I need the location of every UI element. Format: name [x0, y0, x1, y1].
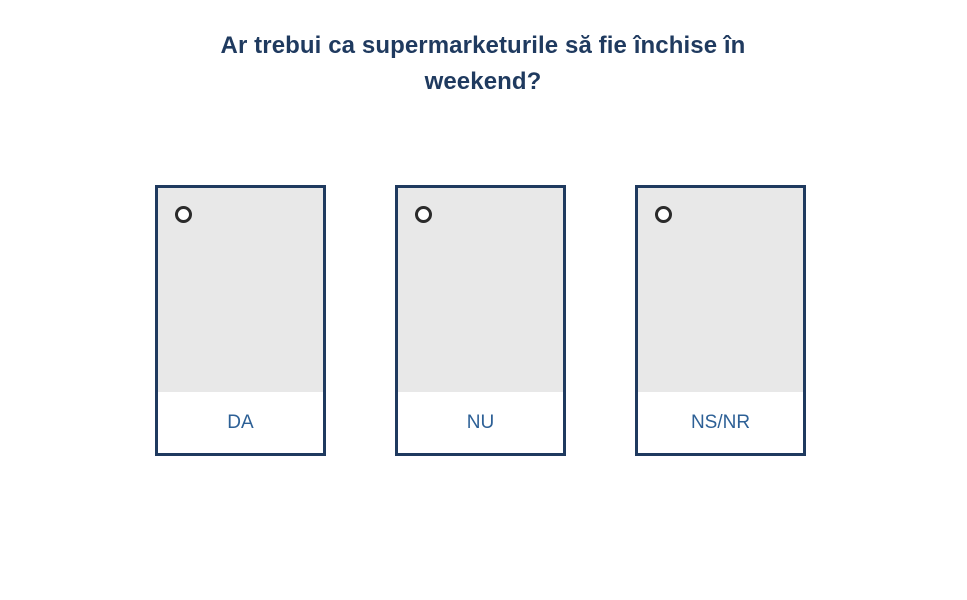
- radio-unchecked-icon[interactable]: [175, 206, 192, 223]
- poll-option-bar-nsnr: [638, 188, 803, 392]
- poll-option-label-area-nu: NU: [398, 392, 563, 453]
- poll-option-card-da[interactable]: DA: [155, 185, 326, 456]
- poll-option-bar-nu: [398, 188, 563, 392]
- poll-option-label-area-nsnr: NS/NR: [638, 392, 803, 453]
- poll-widget: Ar trebui ca supermarketurile să fie înc…: [0, 0, 967, 600]
- poll-question-title: Ar trebui ca supermarketurile să fie înc…: [168, 28, 798, 100]
- poll-option-label: DA: [227, 412, 253, 434]
- poll-option-bar-da: [158, 188, 323, 392]
- radio-unchecked-icon[interactable]: [415, 206, 432, 223]
- poll-options-row: DA NU NS/NR: [155, 185, 807, 456]
- radio-unchecked-icon[interactable]: [655, 206, 672, 223]
- poll-option-label: NS/NR: [691, 412, 750, 434]
- poll-option-label-area-da: DA: [158, 392, 323, 453]
- poll-option-card-nsnr[interactable]: NS/NR: [635, 185, 806, 456]
- poll-option-label: NU: [467, 412, 494, 434]
- poll-option-card-nu[interactable]: NU: [395, 185, 566, 456]
